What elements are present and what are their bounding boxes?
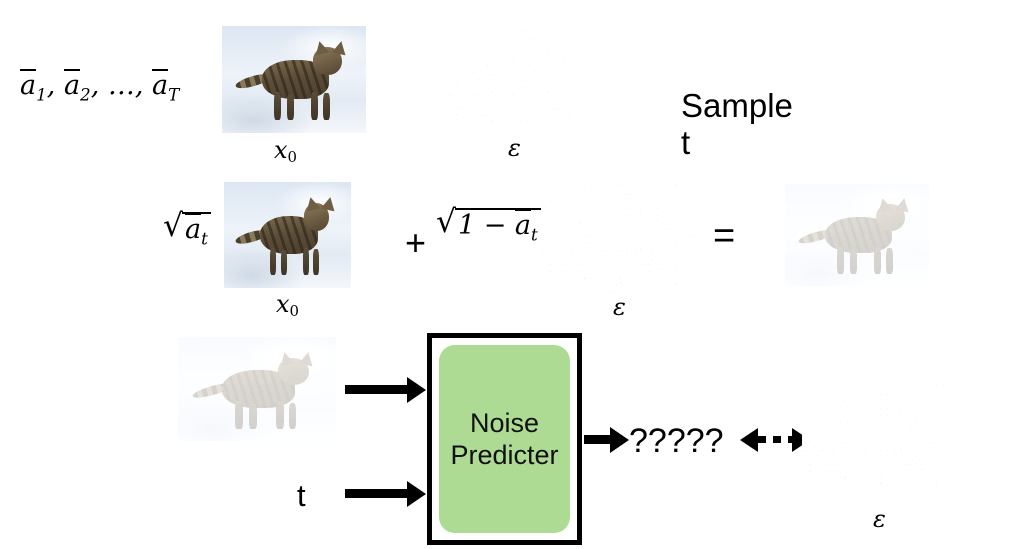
epsilon-caption-row3: ε — [873, 507, 886, 531]
predictor-label-line2: Predicter — [450, 439, 558, 471]
predictor-label-line1: Noise — [450, 407, 558, 439]
sample-t: t — [681, 125, 793, 162]
arrow-head-left — [740, 428, 758, 452]
diagram-canvas: a1, a2, …, aT x0 ε Sample t √ at — [0, 0, 1033, 549]
cat-ear-right — [332, 40, 348, 56]
cat-photo — [224, 182, 351, 288]
noise-image-row2 — [542, 181, 700, 295]
equals-operator: = — [713, 215, 735, 258]
timestep-input-label: t — [297, 479, 306, 514]
cat-leg — [313, 249, 319, 276]
noisy-cat — [785, 184, 929, 286]
unknown-output-placeholder: ????? — [629, 422, 724, 461]
cat-leg — [311, 92, 318, 120]
clean-cat-image-row1 — [222, 26, 366, 133]
sqrt-one-minus-alpha-bar-t: √ 1 − at — [436, 208, 541, 243]
x0-caption-row2: x0 — [276, 292, 299, 319]
x0-caption-row1: x0 — [274, 138, 297, 165]
noise-image-row1 — [449, 25, 582, 126]
noisy-cat-image-row2 — [785, 184, 929, 286]
noise-texture — [449, 25, 582, 126]
noise-overlay — [785, 184, 929, 286]
noise-predictor-fill: Noise Predicter — [439, 345, 570, 533]
cat-leg — [323, 93, 330, 120]
epsilon-caption-row1: ε — [508, 136, 521, 160]
arrow-compare-dotted — [742, 435, 808, 444]
sqrt-alpha-bar-t: √ at — [163, 212, 211, 247]
arrow-image-to-predictor — [345, 385, 409, 394]
cat-photo — [222, 26, 366, 133]
cat-leg — [281, 250, 287, 275]
noisy-cat — [178, 337, 336, 441]
noise-overlay — [178, 337, 336, 441]
plus-operator: + — [405, 222, 426, 264]
cat-leg — [270, 248, 276, 276]
epsilon-caption-row2: ε — [613, 295, 626, 319]
arrow-shaft — [758, 436, 792, 443]
arrow-t-to-predictor — [345, 489, 409, 498]
alphas-bar-label: a1, a2, …, aT — [20, 72, 179, 103]
noisy-cat-image-input — [178, 337, 336, 441]
noise-texture — [542, 181, 700, 295]
noise-image-target — [802, 381, 960, 487]
cat-leg — [287, 94, 294, 120]
sample-t-label: Sample t — [681, 88, 793, 162]
cat-leg — [303, 248, 309, 276]
noise-predictor-label: Noise Predicter — [450, 407, 558, 472]
noise-predictor-box[interactable]: Noise Predicter — [427, 333, 582, 545]
noise-texture — [802, 381, 960, 487]
cat-ear-right — [321, 196, 337, 212]
cat-leg — [274, 92, 281, 120]
clean-cat-image-row2 — [224, 182, 351, 288]
arrow-predictor-to-output — [584, 435, 612, 444]
sample-word: Sample — [681, 88, 793, 125]
